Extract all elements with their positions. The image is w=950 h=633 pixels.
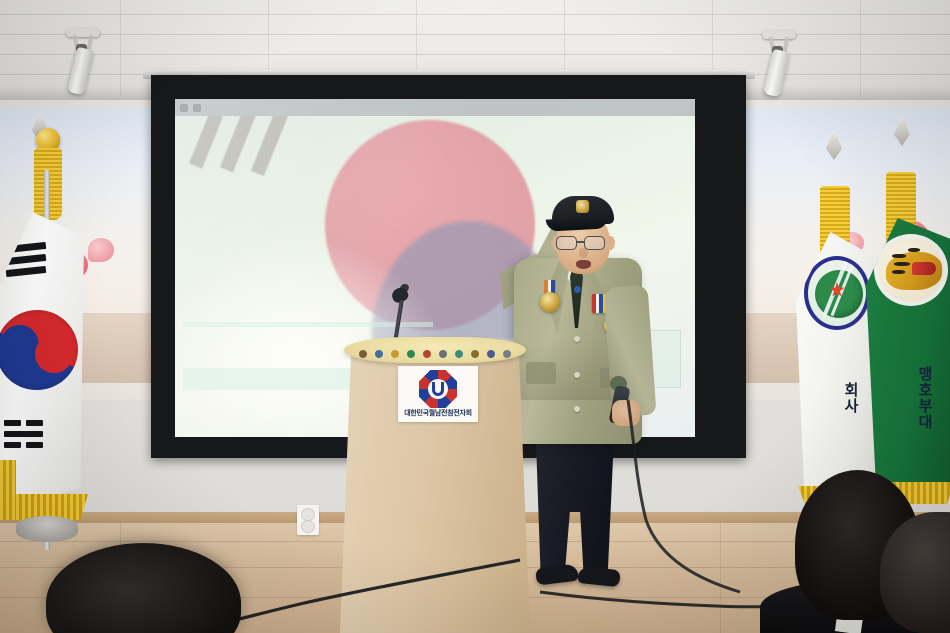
photo-scene: 월남전참 월남전참전 결의대회 xyxy=(0,0,950,633)
